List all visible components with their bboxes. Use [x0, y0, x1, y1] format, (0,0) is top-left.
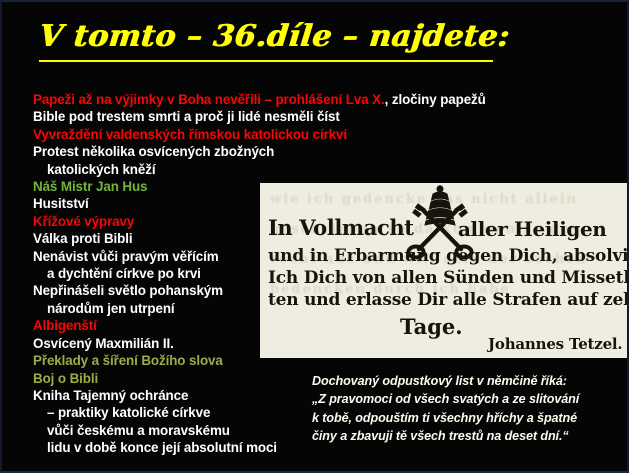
page-title: V tomto – 36.díle – najdete: — [37, 20, 511, 54]
document-signature: Johannes Tetzel. — [488, 335, 622, 353]
fraktur-line-1b: aller Heiligen — [458, 217, 606, 241]
caption-line: Dochovaný odpustkový list v němčině říká… — [312, 372, 629, 390]
fraktur-line-4: ten und erlasse Dir alle Strafen auf zeh… — [268, 290, 629, 310]
caption-line: činy a zbavuji tě všech trestů na deset … — [312, 427, 629, 445]
fraktur-line-2: und in Erbarmung gegen Dich, absolvire — [268, 246, 629, 266]
fraktur-line-1: In Vollmacht — [268, 215, 414, 240]
list-item: Papeži až na výjimky v Boha nevěřili – p… — [33, 91, 593, 108]
caption-line: k tobě, odpouštím ti všechny hříchy a šp… — [312, 409, 629, 427]
fraktur-line-3: Ich Dich von allen Sünden und Missetha- — [268, 268, 629, 288]
indulgence-document-image: wie ich gedencke das nicht allein geschr… — [260, 183, 629, 358]
list-item-tail: , zločiny papežů — [385, 92, 486, 107]
caption-line: „Z pravomoci od všech svatých a ze slito… — [312, 390, 629, 408]
document-caption: Dochovaný odpustkový list v němčině říká… — [312, 372, 629, 446]
list-item: katolických kněží — [33, 161, 593, 178]
fraktur-line-5: Tage. — [400, 314, 463, 339]
title-underline-rule — [39, 60, 493, 62]
list-item: Vyvraždění valdenských římskou katolicko… — [33, 126, 593, 143]
slide-canvas: V tomto – 36.díle – najdete: Papeži až n… — [0, 0, 629, 473]
list-item: Bible pod trestem smrti a proč ji lidé n… — [33, 108, 593, 125]
list-item: Protest několika osvícených zbožných — [33, 143, 593, 160]
slide-title: V tomto – 36.díle – najdete: — [39, 20, 579, 54]
